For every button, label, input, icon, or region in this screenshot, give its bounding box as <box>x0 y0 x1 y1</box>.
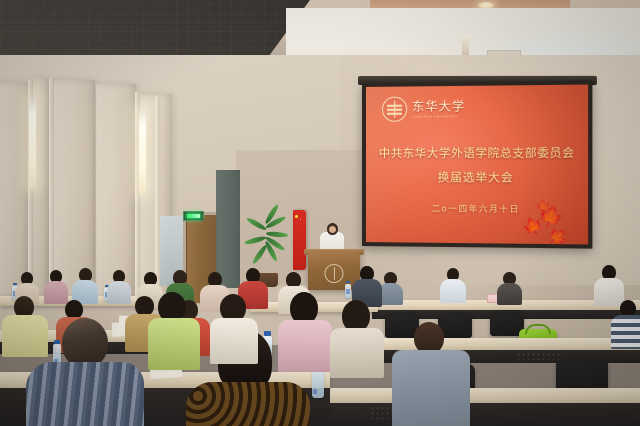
torso <box>594 278 624 306</box>
stage-dark-column <box>216 170 240 288</box>
wall-fixture <box>462 35 469 57</box>
torso <box>148 318 200 370</box>
torso <box>278 320 332 372</box>
torso <box>497 283 522 305</box>
head <box>135 296 154 316</box>
vertical-wall-sconce <box>139 107 146 195</box>
palm-frond <box>251 244 268 265</box>
conference-hall-photo: 东华大学 DONGHUA UNIVERSITY 中共东华大学外语学院总支部委员会… <box>0 0 640 426</box>
projection-screen-surface: 东华大学 DONGHUA UNIVERSITY 中共东华大学外语学院总支部委员会… <box>366 85 588 245</box>
bottle-cap <box>264 331 271 336</box>
torso <box>392 350 470 426</box>
torso <box>611 315 640 349</box>
desk-perforation <box>516 352 560 361</box>
water-bottle <box>345 284 351 298</box>
torso <box>2 315 48 357</box>
podium-university-seal-icon <box>325 264 344 283</box>
speaker-face <box>329 226 336 233</box>
torso <box>186 382 310 426</box>
torso <box>107 281 131 304</box>
wall-panel <box>0 82 30 297</box>
wall-panel <box>50 80 95 298</box>
bottle-cap <box>346 281 350 283</box>
desk-row <box>330 388 640 404</box>
torso <box>26 362 144 426</box>
desk-front-panel <box>330 403 640 426</box>
bottle-cap <box>54 340 60 344</box>
chinese-national-flag <box>293 210 306 270</box>
wall-panel <box>96 84 136 298</box>
torso <box>330 328 384 378</box>
bottle-cap <box>13 283 17 285</box>
torso <box>210 318 258 364</box>
palm-frond <box>244 235 267 246</box>
palm-frond <box>246 216 268 231</box>
projection-screen: 东华大学 DONGHUA UNIVERSITY 中共东华大学外语学院总支部委员会… <box>362 80 592 248</box>
screen-glare <box>366 85 588 245</box>
torso <box>44 281 68 304</box>
exit-sign <box>183 211 204 221</box>
torso <box>440 279 466 303</box>
vertical-wall-sconce <box>29 93 36 189</box>
wall-panel-edge <box>49 78 54 298</box>
head <box>62 318 108 368</box>
